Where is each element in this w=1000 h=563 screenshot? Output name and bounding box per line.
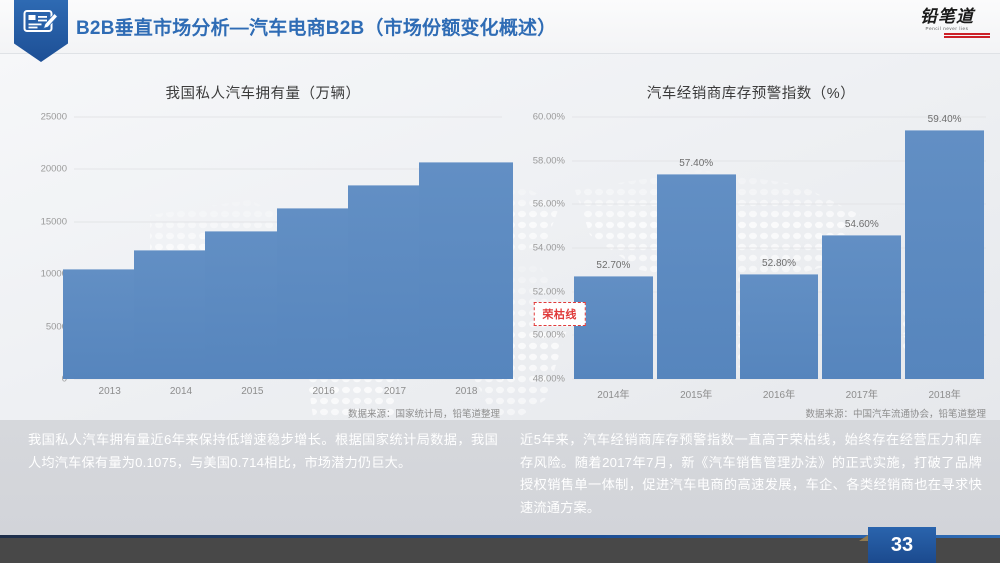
- gridline: [572, 117, 986, 118]
- y-axis-tick-label: 56.00%: [533, 199, 572, 210]
- logo-underline: [904, 33, 990, 38]
- bar-value-label: 59.40%: [928, 114, 962, 125]
- x-axis-tick-label: 2015: [241, 386, 263, 397]
- header-pennant: [14, 0, 68, 62]
- warning-line-badge: 荣枯线: [533, 302, 586, 326]
- slide-header: B2B垂直市场分析—汽车电商B2B（市场份额变化概述） 铅笔道 Pencil n…: [0, 0, 1000, 54]
- bar: [740, 274, 819, 379]
- source-note-right: 数据来源：中国汽车流通协会，铅笔道整理: [805, 406, 986, 420]
- plot-area-right: 48.00%50.00%52.00%54.00%56.00%58.00%60.0…: [510, 117, 992, 379]
- bar: [574, 276, 653, 379]
- chart-title-left: 我国私人汽车拥有量（万辆）: [18, 82, 508, 103]
- x-axis-tick-label: 2018年: [928, 386, 960, 401]
- bar: [657, 174, 736, 379]
- bar-value-label: 52.70%: [596, 260, 630, 271]
- y-axis-tick-label: 58.00%: [533, 155, 572, 166]
- chart-private-car-ownership: 我国私人汽车拥有量（万辆） 05000100001500020000250002…: [18, 66, 508, 418]
- page-title: B2B垂直市场分析—汽车电商B2B（市场份额变化概述）: [76, 13, 556, 40]
- y-axis-tick-label: 60.00%: [533, 112, 572, 123]
- axis-area-right: 48.00%50.00%52.00%54.00%56.00%58.00%60.0…: [572, 117, 986, 379]
- y-axis-tick-label: 25000: [41, 112, 74, 123]
- plot-area-left: 0500010000150002000025000201320142015201…: [18, 117, 508, 379]
- brand-logo: 铅笔道 Pencil never lies: [904, 8, 990, 42]
- document-pen-icon: [23, 8, 59, 35]
- caption-band: 我国私人汽车拥有量近6年来保持低增速稳步增长。根据国家统计局数据，我国人均汽车保…: [0, 420, 1000, 538]
- page-number-badge: 33: [868, 527, 936, 563]
- x-axis-tick-label: 2013: [99, 386, 121, 397]
- y-axis-tick-label: 15000: [41, 216, 74, 227]
- y-axis-tick-label: 50.00%: [533, 330, 572, 341]
- page-number-notch: [859, 535, 868, 541]
- caption-right: 近5年来，汽车经销商库存预警指数一直高于荣枯线，始终存在经营压力和库存风险。随着…: [520, 429, 982, 519]
- y-axis-tick-label: 20000: [41, 164, 74, 175]
- x-axis-tick-label: 2016: [313, 386, 335, 397]
- logo-text-en: Pencil never lies: [904, 25, 990, 32]
- source-note-left: 数据来源：国家统计局，铅笔道整理: [348, 406, 500, 420]
- y-axis-tick-label: 48.00%: [533, 374, 572, 385]
- chart-dealer-inventory-index: 汽车经销商库存预警指数（%） 48.00%50.00%52.00%54.00%5…: [510, 66, 992, 418]
- axis-area-left: 0500010000150002000025000201320142015201…: [74, 117, 502, 379]
- bar-value-label: 57.40%: [679, 158, 713, 169]
- bar-value-label: 52.80%: [762, 258, 796, 269]
- x-axis-tick-label: 2018: [455, 386, 477, 397]
- bar: [822, 235, 901, 379]
- bar: [905, 130, 984, 379]
- x-axis-tick-label: 2016年: [763, 386, 795, 401]
- x-axis-tick-label: 2014: [170, 386, 192, 397]
- caption-left: 我国私人汽车拥有量近6年来保持低增速稳步增长。根据国家统计局数据，我国人均汽车保…: [28, 429, 498, 474]
- gridline: [74, 117, 502, 118]
- chart-title-right: 汽车经销商库存预警指数（%）: [510, 82, 992, 103]
- logo-text-cn: 铅笔道: [904, 8, 990, 25]
- x-axis-tick-label: 2015年: [680, 386, 712, 401]
- bar: [419, 162, 513, 379]
- slide-footer: [0, 538, 1000, 563]
- y-axis-tick-label: 52.00%: [533, 286, 572, 297]
- x-axis-tick-label: 2017: [384, 386, 406, 397]
- x-axis-tick-label: 2017年: [846, 386, 878, 401]
- bar-value-label: 54.60%: [845, 219, 879, 230]
- slide-root: B2B垂直市场分析—汽车电商B2B（市场份额变化概述） 铅笔道 Pencil n…: [0, 0, 1000, 563]
- y-axis-tick-label: 54.00%: [533, 243, 572, 254]
- x-axis-tick-label: 2014年: [597, 386, 629, 401]
